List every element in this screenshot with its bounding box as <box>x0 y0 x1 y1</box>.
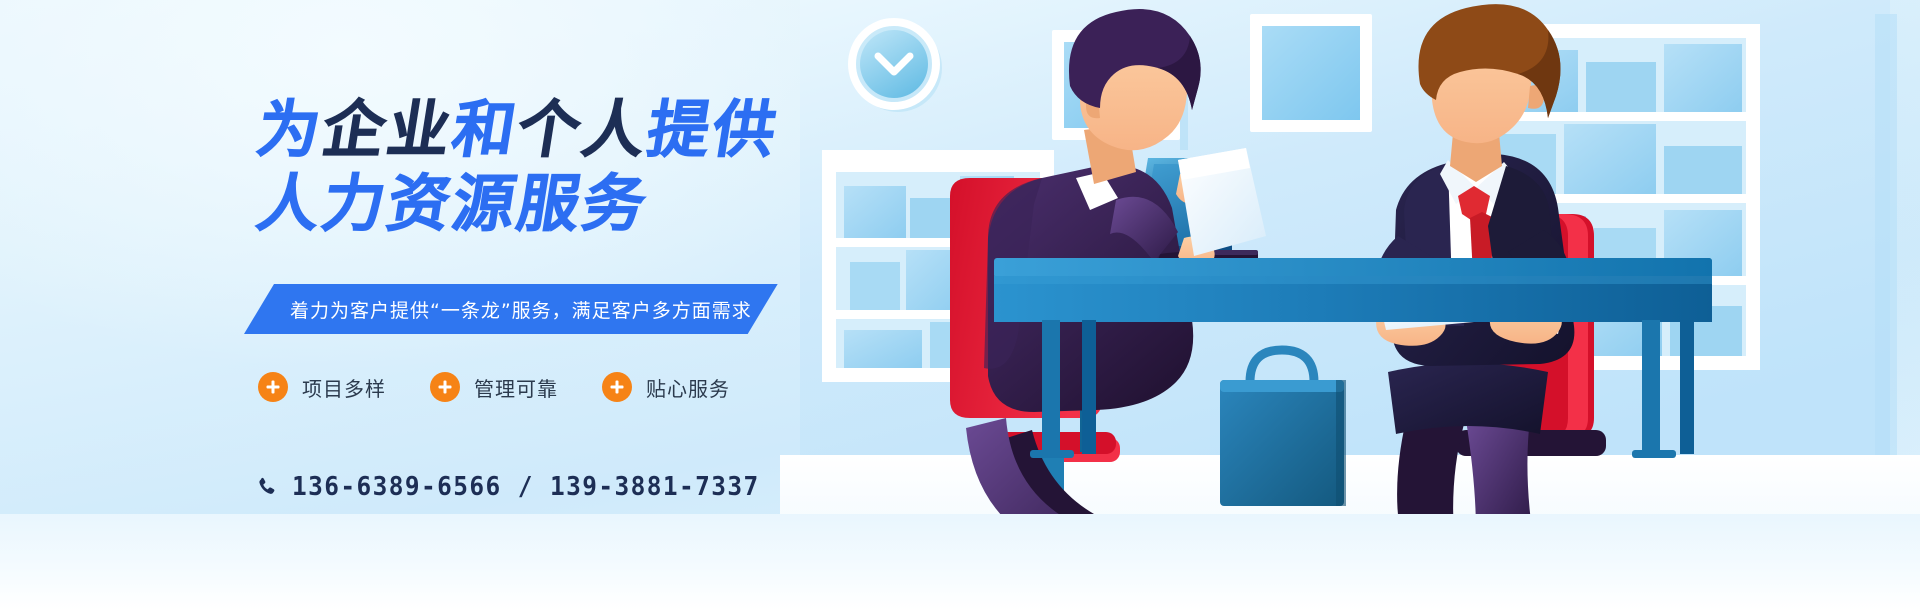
feature-item-1[interactable]: 项目多样 <box>258 372 386 402</box>
feature-item-2[interactable]: 管理可靠 <box>430 372 558 402</box>
headline-seg-5: 提供 <box>642 93 784 166</box>
page-title: 为企业和个人提供 人力资源服务 <box>258 96 778 238</box>
headline-line-1: 为企业和个人提供 <box>253 96 784 164</box>
text-column: 为企业和个人提供 人力资源服务 着力为客户提供“一条龙”服务，满足客户多方面需求… <box>0 0 840 610</box>
feature-label-3: 贴心服务 <box>646 373 730 402</box>
feature-list: 项目多样 管理可靠 贴心服务 <box>258 372 730 402</box>
plus-icon <box>430 372 460 402</box>
subtitle-strip: 着力为客户提供“一条龙”服务，满足客户多方面需求 <box>244 284 778 334</box>
feature-item-3[interactable]: 贴心服务 <box>602 372 730 402</box>
headline-seg-6: 人力资源服务 <box>252 167 654 240</box>
hr-service-banner: 为企业和个人提供 人力资源服务 着力为客户提供“一条龙”服务，满足客户多方面需求… <box>0 0 1920 610</box>
picture-frame-right <box>1250 14 1372 132</box>
headline-line-2: 人力资源服务 <box>253 170 784 238</box>
headline-seg-2: 企业 <box>317 93 459 166</box>
subtitle-text: 着力为客户提供“一条龙”服务，满足客户多方面需求 <box>290 296 752 323</box>
plus-icon <box>258 372 288 402</box>
wall-clock-icon <box>852 22 942 112</box>
headline-seg-3: 和 <box>447 93 524 166</box>
phone-icon <box>256 475 278 499</box>
feature-label-1: 项目多样 <box>302 373 386 402</box>
headline-seg-4: 个人 <box>512 93 654 166</box>
plus-icon <box>602 372 632 402</box>
phone-number: 136-6389-6566 / 139-3881-7337 <box>292 472 760 502</box>
feature-label-2: 管理可靠 <box>474 373 558 402</box>
contact-row[interactable]: 136-6389-6566 / 139-3881-7337 <box>256 472 789 502</box>
headline-seg-1: 为 <box>252 93 329 166</box>
